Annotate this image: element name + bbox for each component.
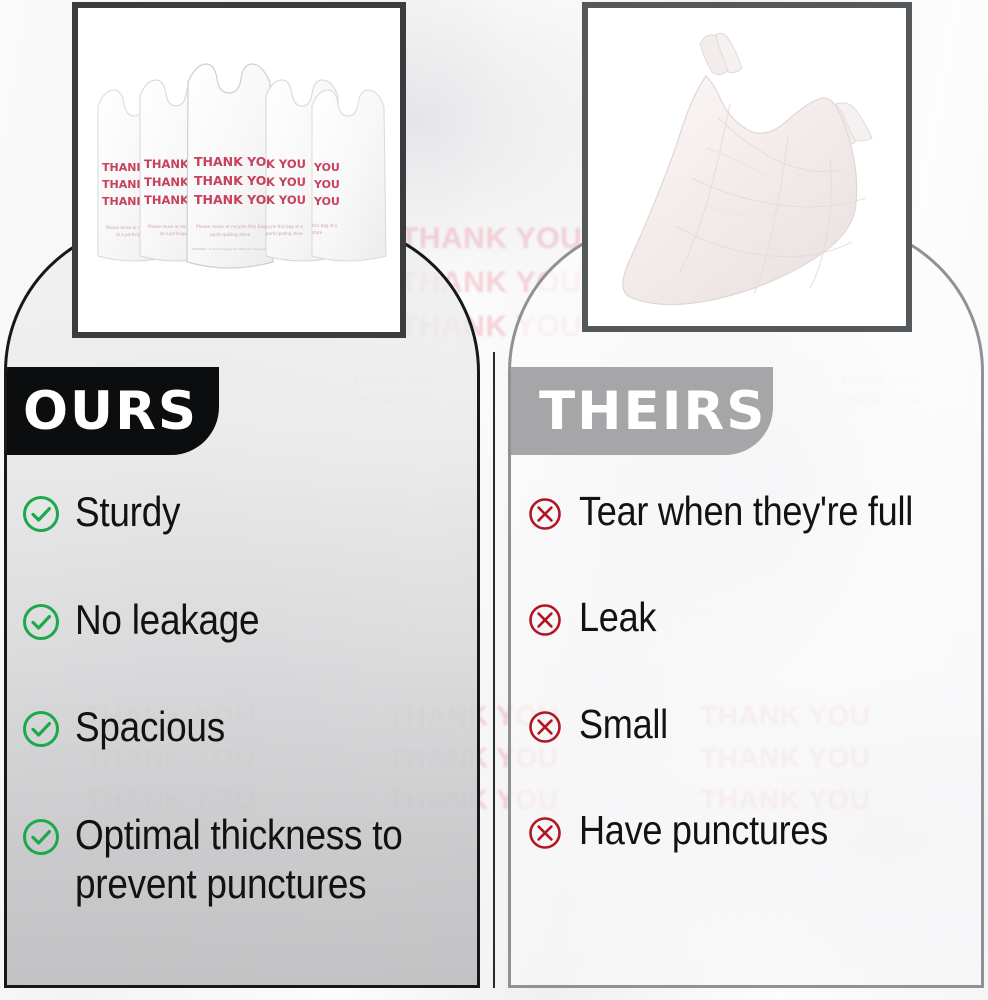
svg-text:THANK: THANK xyxy=(102,195,145,208)
feature-item: Spacious xyxy=(7,702,477,752)
ours-banner: OURS xyxy=(7,367,219,455)
circle-x-icon xyxy=(525,813,565,853)
feature-label: Sturdy xyxy=(75,487,180,537)
theirs-banner: THEIRS xyxy=(511,367,773,455)
svg-text:YOU: YOU xyxy=(313,161,340,174)
feature-item: Optimal thickness to prevent punctures xyxy=(7,810,477,909)
circle-x-icon xyxy=(525,600,565,640)
svg-text:cycle this bag at a: cycle this bag at a xyxy=(266,224,303,229)
svg-text:THANK YOU: THANK YOU xyxy=(194,192,277,207)
svg-text:YOU: YOU xyxy=(313,195,340,208)
svg-text:THANK: THANK xyxy=(102,178,145,191)
feature-label: Spacious xyxy=(75,702,225,752)
ours-banner-label: OURS xyxy=(23,385,198,438)
theirs-banner-label: THEIRS xyxy=(539,385,766,438)
svg-text:store: store xyxy=(312,230,323,235)
svg-text:participating store: participating store xyxy=(266,231,303,236)
feature-label: Have punctures xyxy=(579,806,828,854)
feature-label: Tear when they're full xyxy=(579,487,913,535)
circle-x-icon xyxy=(525,494,565,534)
svg-text:THANK: THANK xyxy=(144,157,190,171)
feature-item: Have punctures xyxy=(511,806,981,854)
crumpled-bag-illustration xyxy=(588,8,906,326)
center-divider xyxy=(493,352,495,988)
svg-text:THANK: THANK xyxy=(144,193,190,207)
svg-text:Please reuse or recycle this b: Please reuse or recycle this bag at a xyxy=(196,224,276,230)
feature-label: Optimal thickness to prevent punctures xyxy=(75,810,402,909)
feature-item: Sturdy xyxy=(7,487,477,537)
feature-label: Small xyxy=(579,700,668,748)
svg-text:K YOU: K YOU xyxy=(266,193,306,207)
feature-item: Small xyxy=(511,700,981,748)
svg-text:THANK YOU: THANK YOU xyxy=(194,173,277,188)
feature-item: Tear when they're full xyxy=(511,487,981,535)
comparison-infographic: THANK YOU THANK YOU THANK YOU THANK YOU … xyxy=(0,0,988,1000)
theirs-product-photo xyxy=(588,8,906,326)
theirs-feature-list: Tear when they're full Leak xyxy=(511,487,981,855)
circle-x-icon xyxy=(525,707,565,747)
thank-you-bags-illustration: THANK THANK THANK Please reuse or recycl… xyxy=(78,8,400,332)
feature-item: No leakage xyxy=(7,595,477,645)
theirs-comparison-card: THEIRS Tear when they're full xyxy=(508,222,984,988)
svg-text:participating store: participating store xyxy=(210,232,251,238)
theirs-product-photo-frame xyxy=(582,2,912,332)
svg-text:YOU: YOU xyxy=(313,178,340,191)
ours-product-photo-frame: THANK THANK THANK Please reuse or recycl… xyxy=(72,2,406,338)
svg-text:THANK: THANK xyxy=(144,175,190,189)
feature-item: Leak xyxy=(511,593,981,641)
svg-text:THANK YOU: THANK YOU xyxy=(194,154,277,169)
ours-feature-list: Sturdy No leakage Spac xyxy=(7,487,477,909)
circle-check-icon xyxy=(21,494,61,534)
circle-check-icon xyxy=(21,817,61,857)
ours-product-photo: THANK THANK THANK Please reuse or recycl… xyxy=(78,8,400,332)
svg-text:THANK: THANK xyxy=(102,161,145,174)
circle-check-icon xyxy=(21,602,61,642)
svg-text:K YOU: K YOU xyxy=(266,157,306,171)
feature-label: Leak xyxy=(579,593,656,641)
svg-text:K YOU: K YOU xyxy=(266,175,306,189)
circle-check-icon xyxy=(21,709,61,749)
watermark-text: THANK YOU xyxy=(400,222,582,256)
feature-label: No leakage xyxy=(75,595,259,645)
svg-text:this bag at a: this bag at a xyxy=(312,223,338,228)
